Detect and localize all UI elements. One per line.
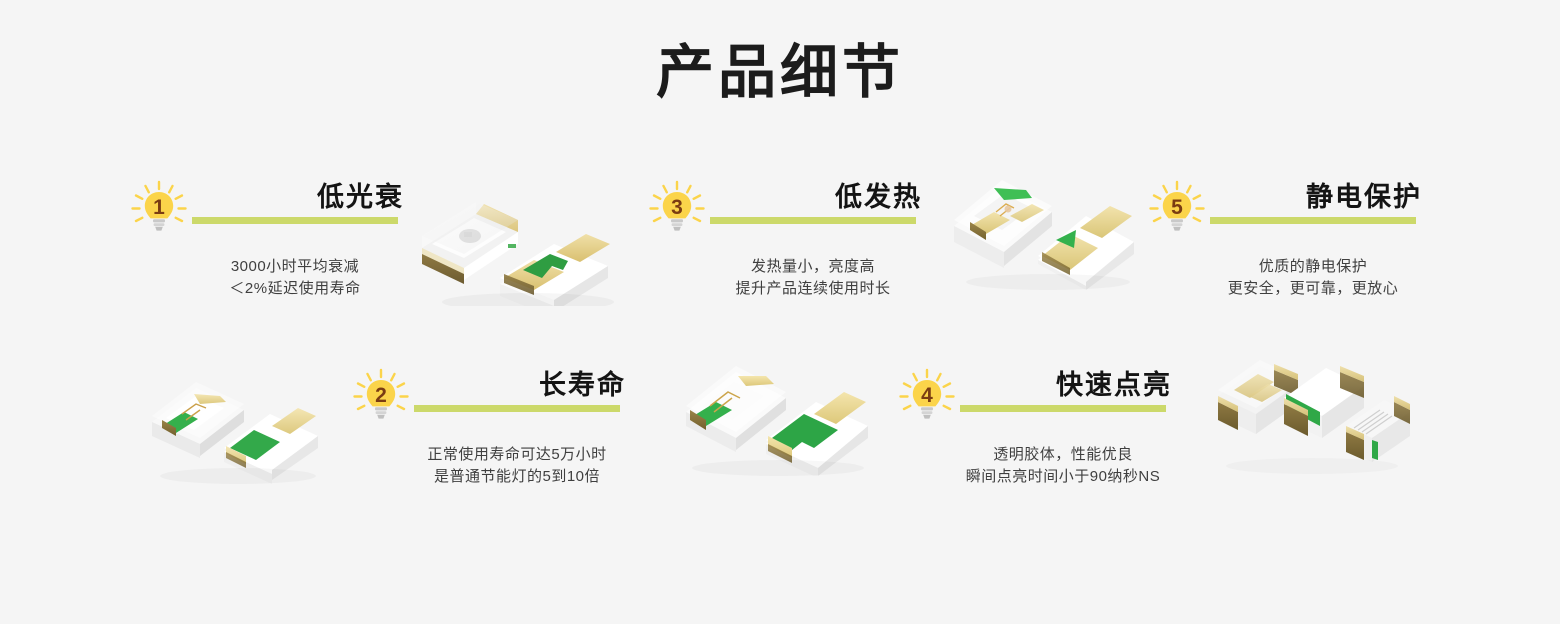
feature-description-1: 3000小时平均衰减 ＜2%延迟使用寿命 (176, 256, 414, 300)
bulb-number-2: 2 (375, 384, 387, 407)
feature-desc-line-1a: 3000小时平均衰减 (176, 256, 414, 278)
feature-header-4: 4 快速点亮 (898, 366, 1204, 422)
feature-desc-line-5a: 优质的静电保护 (1194, 256, 1432, 278)
feature-header-2: 2 长寿命 (352, 366, 652, 422)
lightbulb-icon: 4 (898, 368, 956, 426)
product-detail-page: 产品细节 (0, 0, 1560, 624)
feature-title-1: 低光衰 (192, 178, 404, 216)
product-image-3 (948, 164, 1138, 290)
product-image-5 (1212, 350, 1412, 476)
bulb-number-1: 1 (153, 196, 165, 219)
feature-underline-1 (192, 217, 398, 224)
feature-underline-5 (1210, 217, 1416, 224)
feature-title-group-1: 低光衰 (192, 178, 404, 224)
feature-header-3: 3 低发热 (648, 178, 932, 234)
feature-description-4: 透明胶体，性能优良 瞬间点亮时间小于90纳秒NS (922, 444, 1204, 488)
feature-description-3: 发热量小，亮度高 提升产品连续使用时长 (694, 256, 932, 300)
feature-title-group-3: 低发热 (710, 178, 922, 224)
feature-header-1: 1 低光衰 (130, 178, 414, 234)
lightbulb-icon: 1 (130, 180, 188, 238)
feature-title-group-5: 静电保护 (1210, 178, 1422, 224)
feature-description-2: 正常使用寿命可达5万小时 是普通节能灯的5到10倍 (382, 444, 652, 488)
feature-block-5: 5 静电保护 优质的静电保护 更安全，更可靠，更放心 (1148, 178, 1432, 300)
feature-header-5: 5 静电保护 (1148, 178, 1432, 234)
feature-desc-line-3b: 提升产品连续使用时长 (694, 278, 932, 300)
lightbulb-icon: 2 (352, 368, 410, 426)
feature-title-4: 快速点亮 (960, 366, 1172, 404)
feature-title-2: 长寿命 (414, 366, 626, 404)
feature-title-group-2: 长寿命 (414, 366, 626, 412)
bulb-number-4: 4 (921, 384, 933, 407)
bulb-number-5: 5 (1171, 196, 1183, 219)
feature-desc-line-2a: 正常使用寿命可达5万小时 (382, 444, 652, 466)
feature-block-4: 4 快速点亮 透明胶体，性能优良 瞬间点亮时间小于90纳秒NS (898, 366, 1204, 488)
lightbulb-icon: 5 (1148, 180, 1206, 238)
feature-desc-line-4a: 透明胶体，性能优良 (922, 444, 1204, 466)
product-image-4 (678, 352, 878, 476)
page-title: 产品细节 (0, 38, 1560, 108)
feature-description-5: 优质的静电保护 更安全，更可靠，更放心 (1194, 256, 1432, 300)
feature-underline-4 (960, 405, 1166, 412)
feature-desc-line-5b: 更安全，更可靠，更放心 (1194, 278, 1432, 300)
feature-title-group-4: 快速点亮 (960, 366, 1172, 412)
feature-block-1: 1 低光衰 3000小时平均衰减 ＜2%延迟使用寿命 (130, 178, 414, 300)
feature-block-3: 3 低发热 发热量小，亮度高 提升产品连续使用时长 (648, 178, 932, 300)
lightbulb-icon: 3 (648, 180, 706, 238)
product-image-2 (148, 366, 328, 486)
feature-block-2: 2 长寿命 正常使用寿命可达5万小时 是普通节能灯的5到10倍 (352, 366, 652, 488)
feature-desc-line-4b: 瞬间点亮时间小于90纳秒NS (922, 466, 1204, 488)
feature-desc-line-2b: 是普通节能灯的5到10倍 (382, 466, 652, 488)
bulb-number-3: 3 (671, 196, 683, 219)
feature-title-5: 静电保护 (1210, 178, 1422, 216)
product-image-1 (418, 186, 628, 306)
feature-underline-2 (414, 405, 620, 412)
feature-title-3: 低发热 (710, 178, 922, 216)
feature-underline-3 (710, 217, 916, 224)
feature-desc-line-1b: ＜2%延迟使用寿命 (176, 278, 414, 300)
feature-desc-line-3a: 发热量小，亮度高 (694, 256, 932, 278)
